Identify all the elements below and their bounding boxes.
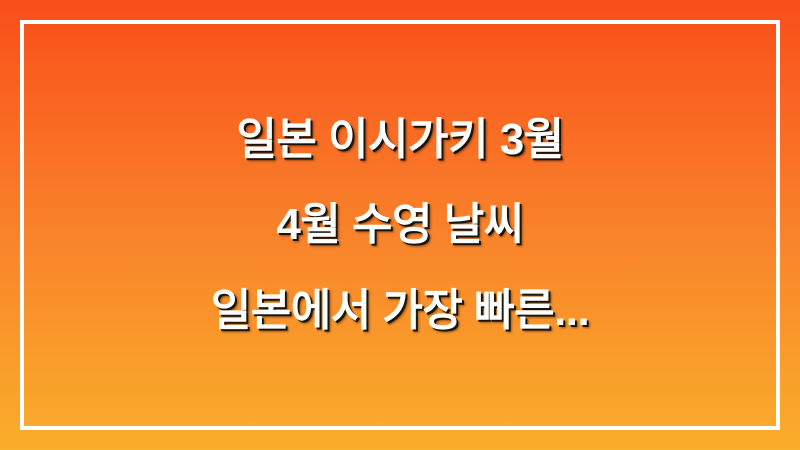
title-line-2: 4월 수영 날씨 bbox=[276, 200, 523, 249]
title-block: 일본 이시가키 3월 4월 수영 날씨 일본에서 가장 빠른... bbox=[0, 0, 800, 450]
thumbnail-card: 일본 이시가키 3월 4월 수영 날씨 일본에서 가장 빠른... bbox=[0, 0, 800, 450]
title-line-1: 일본 이시가키 3월 bbox=[236, 115, 563, 164]
title-line-3: 일본에서 가장 빠른... bbox=[211, 286, 589, 335]
